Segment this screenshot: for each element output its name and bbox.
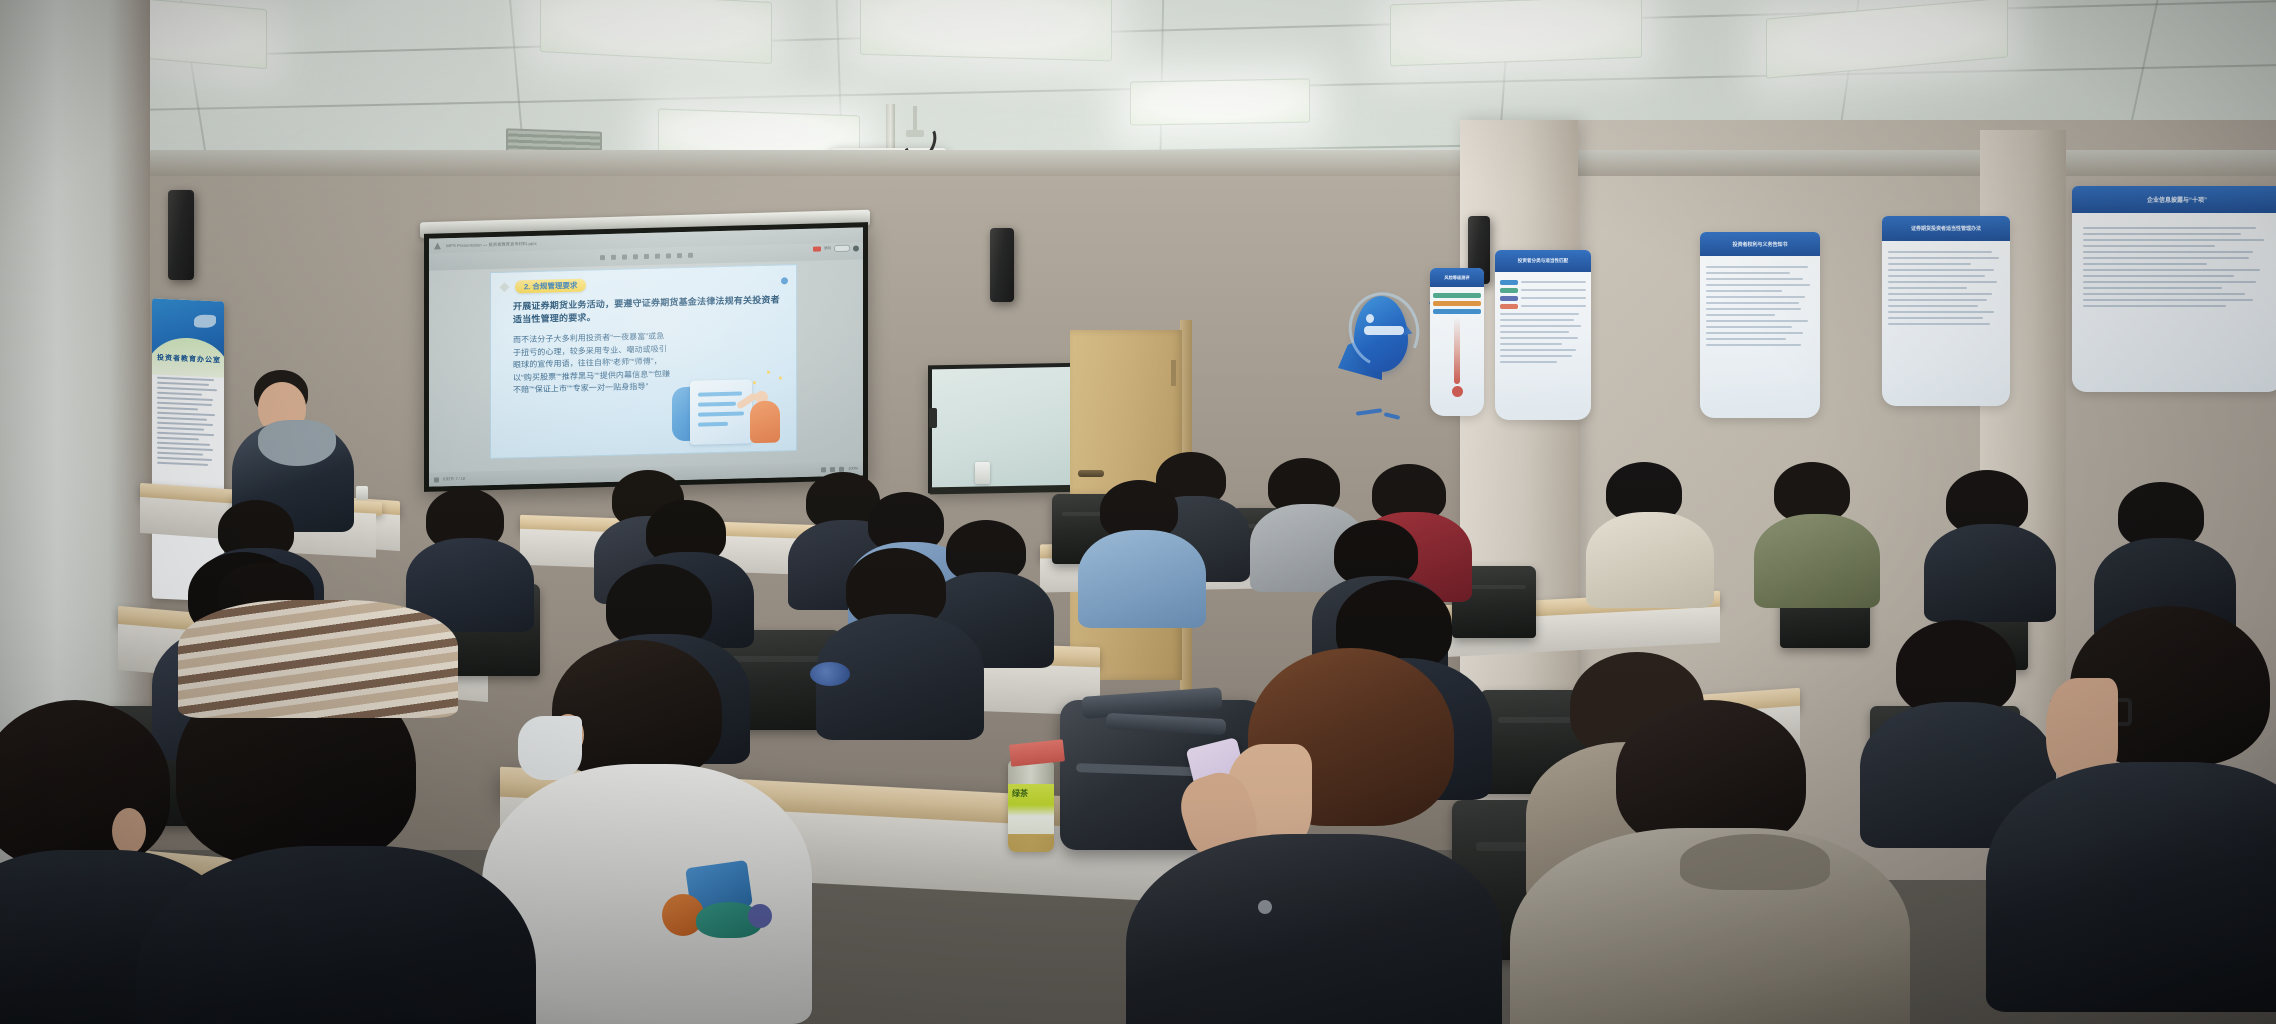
poster-rights-title: 投资者权利与义务告知书 [1700,232,1820,256]
slide-paragraph-1: 开展证券期货业务活动，要遵守证券期货基金法律法规有关投资者适当性管理的要求。 [513,293,781,326]
attendee-face-mask [518,716,582,780]
whiteboard-surface [932,367,1084,490]
toolbar-undo-icon[interactable] [611,255,616,260]
toolbar-shape-icon[interactable] [655,254,660,259]
slide-paragraph-2: 而不法分子大多利用投资者“一夜暴富”或急于扭亏的心理，较多采用专业、嘲动或吸引眼… [513,330,671,397]
hoodie-collar [1680,834,1830,890]
poster-risk-thermometer: 风险等级测评 [1430,268,1484,416]
striped-sweater [178,600,458,718]
tshirt-graphic-print [662,864,768,940]
poster-suitability-regulation: 证券期货投资者适当性管理办法 [1882,216,2010,406]
share-button[interactable] [834,245,850,252]
attendee-black-jacket [1126,834,1502,1024]
presenter-cup [356,486,368,500]
poster-enterprise-info: 企业信息披露与“十项” [2072,186,2276,392]
attendee-ear-left [112,808,146,854]
poster-thermometer-title: 风险等级测评 [1430,268,1484,287]
ppt-titlebar-text: WPS Presentation — 投资者教育宣传材料.pptx [446,240,537,248]
ceiling-light-7 [1130,78,1310,125]
record-label: 录制 [824,246,831,251]
wall-speaker-right [990,228,1014,302]
ppt-header-actions[interactable]: 录制 [813,244,859,252]
projection-screen[interactable]: WPS Presentation — 投资者教育宣传材料.pptx 录制 [424,222,868,492]
view-slideshow-icon[interactable] [839,466,844,471]
toolbar-image-icon[interactable] [666,253,671,258]
poster-suitability-title: 证券期货投资者适当性管理办法 [1882,216,2010,241]
mascot-label [1364,326,1404,335]
door-hinge-top [1171,360,1176,386]
backpack-strap-2 [1106,713,1227,735]
wps-logo-icon [434,242,441,249]
slide-counter: 幻灯片 7 / 18 [443,476,465,482]
blue-fabric-item [810,662,850,686]
poster-investor-classification: 投资者分类与适当性匹配 [1495,250,1591,420]
view-reading-icon[interactable] [830,467,835,472]
slide-section-number: 2. [524,282,530,291]
view-sorter-icon[interactable] [821,467,826,472]
toolbar-save-icon[interactable] [600,255,605,260]
slide-section-badge: 2. 合规管理要求 [515,279,586,294]
poster-rights-obligations: 投资者权利与义务告知书 [1700,232,1820,418]
toolbar-text-icon[interactable] [644,254,649,259]
decorative-diamond-icon [500,282,510,292]
wall-soffit [150,150,2276,176]
whiteboard-marker[interactable] [975,462,990,484]
ceiling-light-2 [540,0,772,64]
bottle-liquid [1008,834,1054,852]
green-tea-bottle: 绿茶 [1008,760,1054,852]
ceiling-light-3 [860,0,1112,61]
whiteboard-clip [929,408,937,428]
toolbar-chart-icon[interactable] [688,253,693,258]
presenter-hood [258,420,336,466]
illustration-person-body [750,400,780,443]
bottle-label-text: 绿茶 [1012,788,1028,799]
toolbar-print-icon[interactable] [633,254,638,259]
wall-speaker-left [168,190,194,280]
mascot-eye-icon [1366,314,1374,323]
poster-investor-education-office: 投资者教育办公室 [152,298,224,601]
toolbar-table-icon[interactable] [677,253,682,258]
toolbar-redo-icon[interactable] [622,255,627,260]
ceiling-light-4 [1390,0,1642,66]
zoom-level: 100% [848,466,858,470]
classroom-seminar-photo: WPS Presentation — 投资者教育宣传材料.pptx 录制 [0,0,2276,1024]
slide-corner-dot-icon [781,277,788,284]
record-icon[interactable] [813,246,821,251]
poster-fish-icon [194,314,216,328]
illustration-document [690,379,752,445]
screen-surface: WPS Presentation — 投资者教育宣传材料.pptx 录制 [429,227,863,486]
avatar[interactable] [853,245,859,251]
poster-enterprise-title: 企业信息披露与“十项” [2072,186,2276,213]
jacket-button [1258,900,1272,914]
whiteboard[interactable] [928,363,1088,494]
view-normal-icon[interactable] [434,477,439,482]
poster-classification-title: 投资者分类与适当性匹配 [1495,250,1591,272]
current-slide: 2. 合规管理要求 开展证券期货业务活动，要遵守证券期货基金法律法规有关投资者适… [490,264,797,459]
door-handle[interactable] [1078,470,1104,477]
poster-mascot-droplet [1338,292,1416,388]
slide-badge-title: 合规管理要求 [532,280,577,292]
projector-mount-arm [886,104,895,150]
slide-illustration [668,366,786,451]
